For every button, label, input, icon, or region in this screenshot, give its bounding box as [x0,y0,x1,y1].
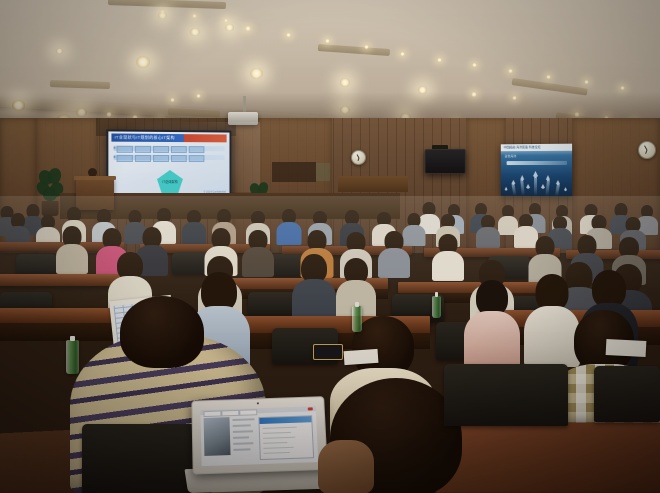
laptop-screen[interactable] [200,406,318,466]
loose-paper-right [344,349,379,365]
wall-clock-right [638,141,656,159]
page-image [204,417,231,456]
webcam-icon [257,402,259,404]
page-text-line [233,436,249,438]
water-bottle-center [352,306,362,332]
reader-head [120,296,204,368]
browser-tab[interactable] [203,410,221,417]
pentagon-label: IT总体架构 [157,179,183,184]
wall-mounted-display [425,149,466,174]
head-table [338,176,408,192]
ceiling-projector [228,112,258,125]
browser-tab[interactable] [239,409,257,416]
slide-title-bar: IT业现状与IT规划的核心IT架构 [111,133,226,142]
conference-hall-photo: IT业现状与IT规划的核心IT架构 IT总体架构 © 2014 Confiden… [0,0,660,493]
content-panel [258,415,314,460]
foreground-chair-center [444,364,568,426]
loose-paper-far-right [606,339,647,357]
page-text-line [233,430,253,432]
poster-header: 中国船舶 海洋装备 科技论坛 [501,144,572,152]
poster-subtitle: 蓝色海洋 [505,154,517,158]
close-icon[interactable] [308,407,313,410]
page-text-line [233,442,253,444]
page-text-line [233,424,251,426]
presentation-slide: IT业现状与IT规划的核心IT架构 IT总体架构 © 2014 Confiden… [108,131,229,196]
event-poster: 中国船舶 海洋装备 科技论坛 蓝色海洋 [501,144,572,197]
foreground-desk-right [436,423,660,493]
foreground-chair-right [594,366,660,422]
browser-tab[interactable] [221,409,239,416]
smartphone-on-desk[interactable] [313,344,343,360]
projection-screen: IT业现状与IT规划的核心IT架构 IT总体架构 © 2014 Confiden… [106,129,231,198]
page-text-line [233,448,250,450]
slide-title-text: IT业现状与IT规划的核心IT架构 [111,133,226,142]
water-bottle-right [432,296,441,318]
page-text-line [233,418,255,420]
wall-clock-left [351,150,366,165]
laptop-lid [191,396,328,474]
slide-pentagon-diagram: IT总体架构 [157,170,183,194]
open-laptop[interactable] [192,398,324,493]
poster-title-bar [507,161,567,165]
poster-header-text: 中国船舶 海洋装备 科技论坛 [501,144,572,152]
attendee-hand [318,440,374,493]
podium-top [74,176,116,180]
content-panel-header [259,416,311,424]
